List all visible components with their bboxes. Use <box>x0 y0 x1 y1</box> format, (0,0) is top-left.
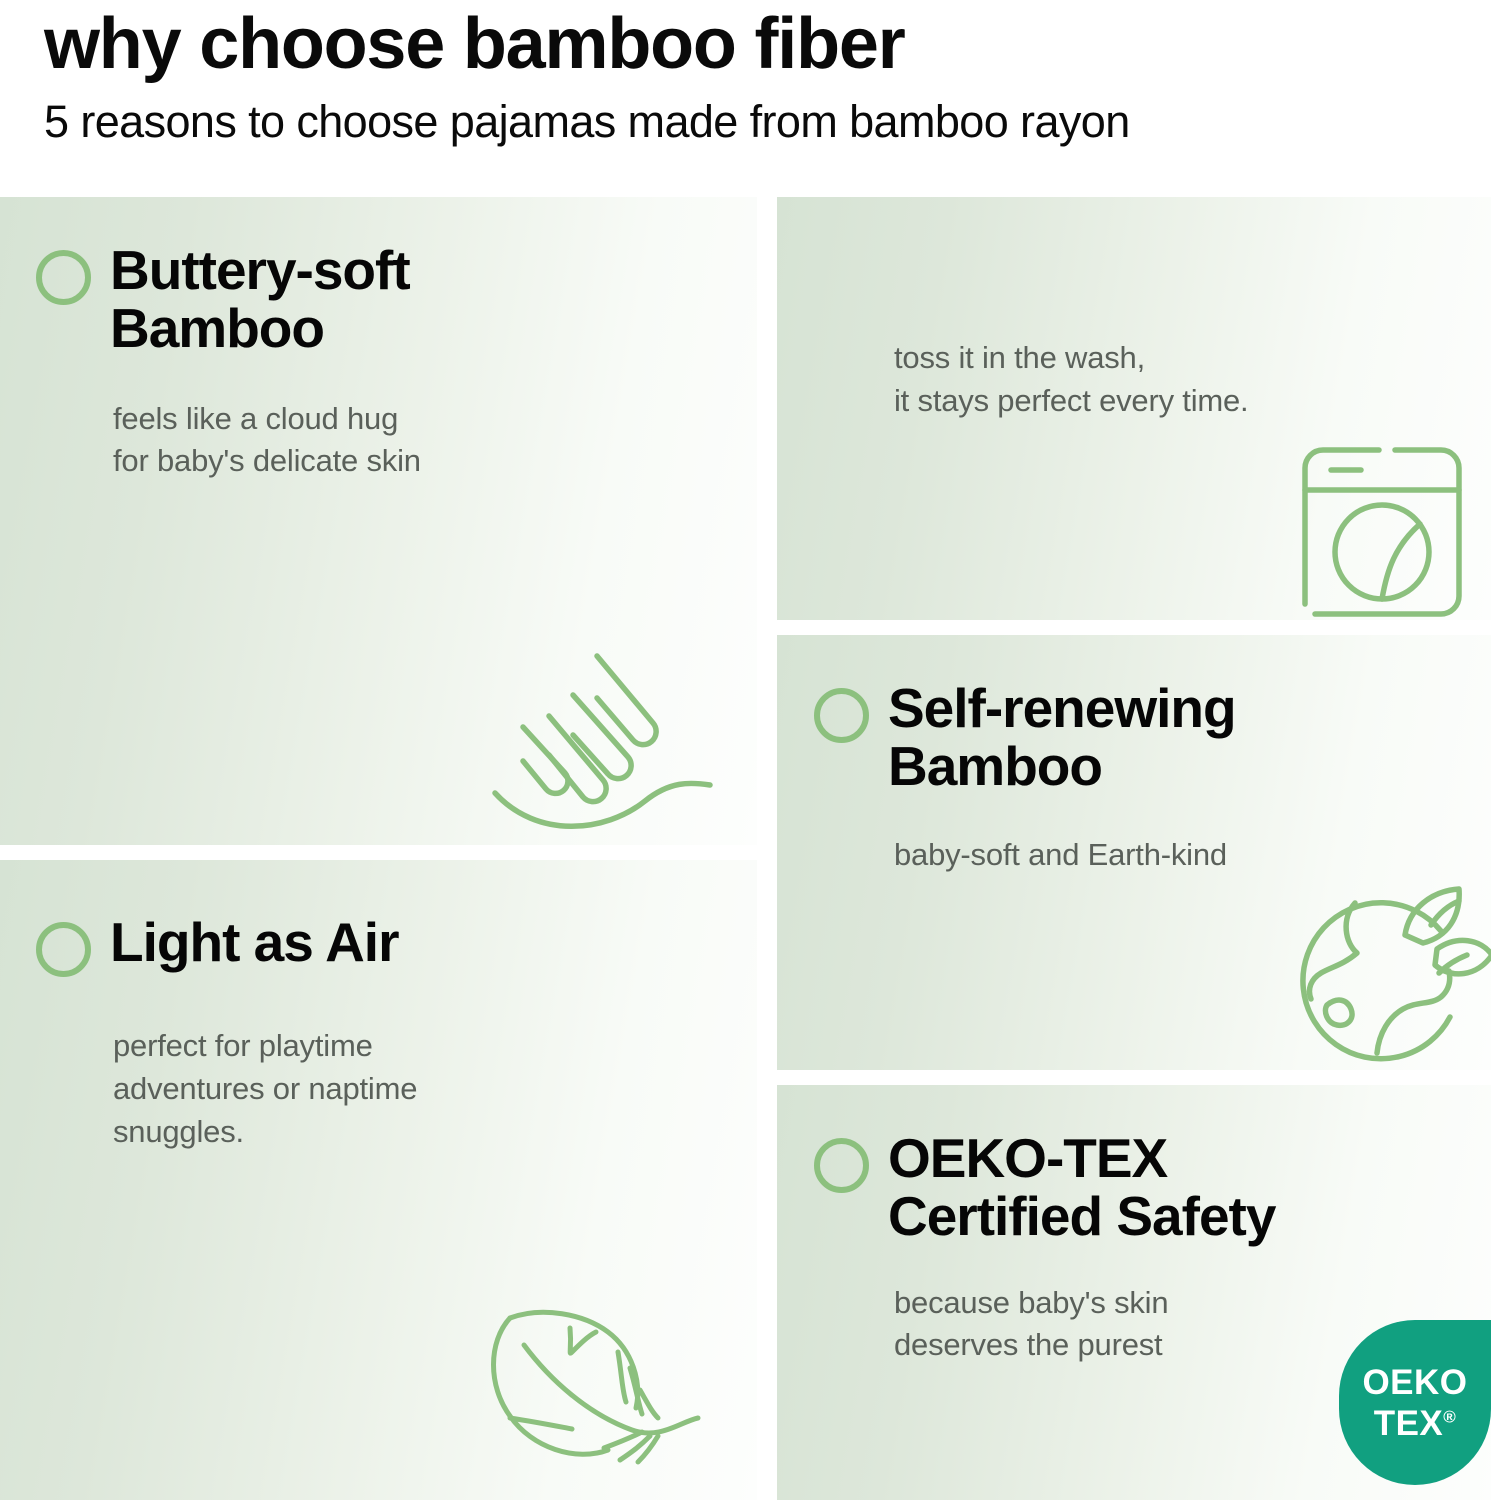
card-title-line1: Self-renewing <box>888 679 1236 737</box>
washing-machine-icon <box>1283 438 1473 620</box>
card-body: perfect for playtime adventures or napti… <box>0 977 757 1153</box>
card-title-line1: Light as Air <box>110 913 399 971</box>
card-body-line1: because baby's skin <box>894 1282 1491 1325</box>
page-title: why choose bamboo fiber <box>44 0 1464 80</box>
card-title-line1: Buttery-soft <box>110 241 410 299</box>
page-subtitle: 5 reasons to choose pajamas made from ba… <box>44 80 1464 148</box>
card-body-line1: perfect for playtime <box>113 1025 757 1068</box>
card-title: Self-renewing Bamboo <box>888 679 1236 796</box>
right-column: Mom-approved toss it in the wash, it sta… <box>777 197 1491 1500</box>
card-self-renewing-bamboo: Self-renewing Bamboo baby-soft and Earth… <box>777 635 1491 1070</box>
circle-bullet-icon <box>814 688 869 743</box>
card-header: Self-renewing Bamboo <box>777 635 1491 796</box>
hand-touch-icon <box>485 643 735 845</box>
circle-bullet-icon <box>36 250 91 305</box>
oeko-badge-line2: TEX® <box>1374 1406 1457 1441</box>
card-body-line2: it stays perfect every time. <box>894 380 1491 423</box>
circle-bullet-icon <box>814 1138 869 1193</box>
card-body: baby-soft and Earth-kind <box>777 796 1491 877</box>
card-body: feels like a cloud hug for baby's delica… <box>0 358 757 484</box>
card-title: OEKO-TEX Certified Safety <box>888 1129 1275 1246</box>
card-title: Light as Air <box>110 913 399 971</box>
card-body-line2: adventures or naptime <box>113 1068 757 1111</box>
earth-leaf-icon <box>1281 877 1491 1070</box>
card-title: Buttery-soft Bamboo <box>110 241 410 358</box>
registered-mark-icon: ® <box>1443 1407 1456 1426</box>
oeko-badge-text: TEX <box>1374 1404 1444 1443</box>
circle-bullet-icon <box>36 922 91 977</box>
card-mom-approved: Mom-approved toss it in the wash, it sta… <box>777 197 1491 620</box>
oeko-tex-badge: OEKO TEX® <box>1339 1320 1491 1485</box>
card-body-line1: toss it in the wash, <box>894 337 1491 380</box>
card-buttery-soft-bamboo: Buttery-soft Bamboo feels like a cloud h… <box>0 197 757 845</box>
card-header: Buttery-soft Bamboo <box>0 197 757 358</box>
oeko-badge-line1: OEKO <box>1362 1365 1467 1400</box>
card-body-line3: snuggles. <box>113 1111 757 1154</box>
infographic-page: why choose bamboo fiber 5 reasons to cho… <box>0 0 1491 1500</box>
card-header: Light as Air <box>0 860 757 977</box>
card-body: toss it in the wash, it stays perfect ev… <box>777 303 1491 423</box>
card-light-as-air: Light as Air perfect for playtime advent… <box>0 860 757 1500</box>
card-body-line1: feels like a cloud hug <box>113 398 757 441</box>
card-header: Mom-approved <box>777 197 1491 303</box>
card-title-line1: OEKO-TEX <box>888 1129 1275 1187</box>
card-body-line1: baby-soft and Earth-kind <box>894 834 1491 877</box>
card-title-line2: Bamboo <box>110 299 410 357</box>
card-body-line2: for baby's delicate skin <box>113 440 757 483</box>
left-column: Buttery-soft Bamboo feels like a cloud h… <box>0 197 757 1500</box>
card-oeko-tex-certified-safety: OEKO-TEX Certified Safety because baby's… <box>777 1085 1491 1500</box>
header: why choose bamboo fiber 5 reasons to cho… <box>44 0 1464 148</box>
feather-icon <box>480 1290 720 1490</box>
card-header: OEKO-TEX Certified Safety <box>777 1085 1491 1246</box>
card-title-line2: Bamboo <box>888 737 1236 795</box>
card-title-line2: Certified Safety <box>888 1187 1275 1245</box>
